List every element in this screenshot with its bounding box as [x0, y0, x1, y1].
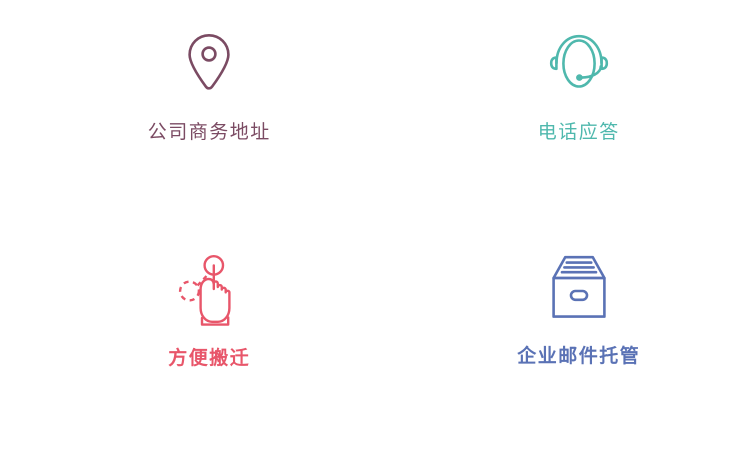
feature-label-company-address: 公司商务地址 — [148, 117, 271, 144]
feature-label-easy-relocation: 方便搬迁 — [168, 343, 250, 370]
feature-item-mail-hosting[interactable]: 企业邮件托管 — [375, 227, 749, 454]
feature-item-company-address[interactable]: 公司商务地址 — [0, 0, 375, 227]
tap-drag-hand-icon — [178, 253, 240, 327]
feature-label-mail-hosting: 企业邮件托管 — [517, 341, 640, 368]
file-box-icon — [548, 253, 610, 325]
feature-label-phone-answering: 电话应答 — [538, 117, 620, 144]
features-grid: 公司商务地址 电话应答 — [0, 0, 749, 454]
feature-item-easy-relocation[interactable]: 方便搬迁 — [0, 227, 375, 454]
feature-item-phone-answering[interactable]: 电话应答 — [375, 0, 749, 227]
map-pin-icon — [187, 33, 231, 91]
headset-icon — [548, 33, 610, 91]
